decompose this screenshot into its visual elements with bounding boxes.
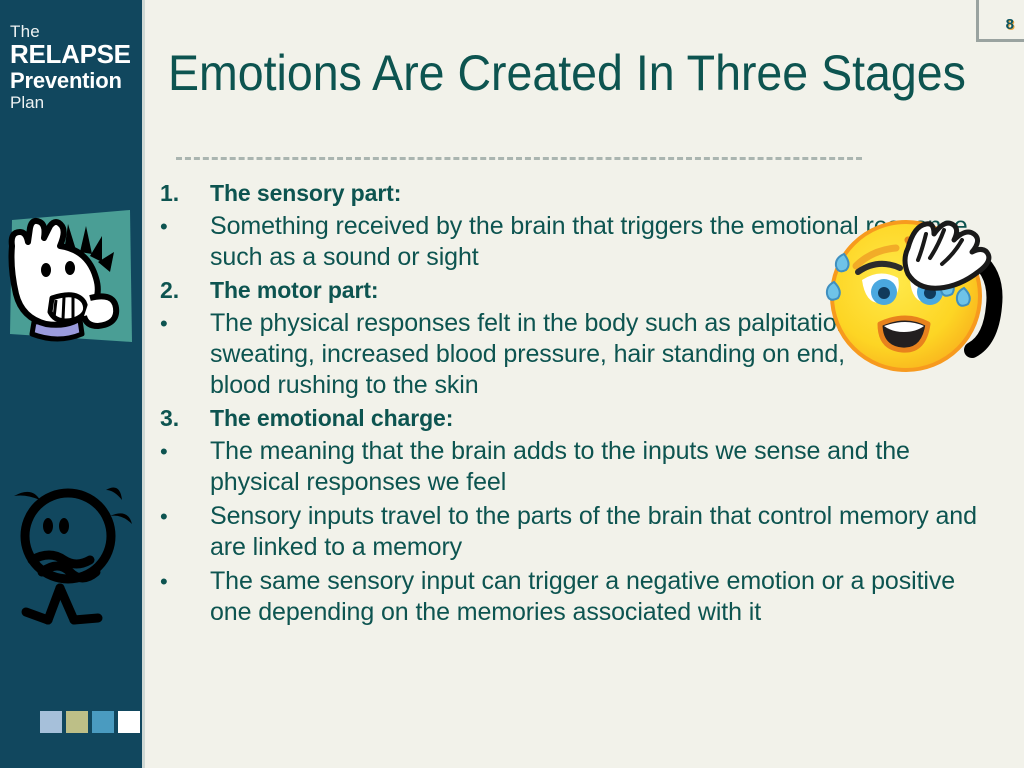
list-marker: •	[160, 566, 210, 597]
list-text: Sensory inputs travel to the parts of th…	[210, 501, 980, 563]
list-marker: 1.	[160, 178, 210, 208]
color-swatch-row	[40, 711, 140, 733]
list-item: • Sensory inputs travel to the parts of …	[160, 501, 980, 563]
shouting-figure-illustration	[2, 202, 138, 354]
stick-figure-sweating-illustration	[2, 460, 136, 632]
swatch-blue	[92, 711, 114, 733]
swatch-khaki	[66, 711, 88, 733]
corner-tab	[976, 0, 1024, 42]
swatch-white	[118, 711, 140, 733]
page-number: 8	[1006, 16, 1014, 33]
stressed-emoji-with-hand-on-forehead	[822, 196, 1014, 386]
list-marker: 2.	[160, 275, 210, 305]
list-item: 3. The emotional charge:	[160, 403, 980, 433]
list-marker: •	[160, 211, 210, 242]
logo-line-relapse: RELAPSE	[10, 41, 136, 68]
list-item: • The same sensory input can trigger a n…	[160, 566, 980, 628]
divider	[176, 157, 862, 160]
list-item: • The meaning that the brain adds to the…	[160, 436, 980, 498]
list-text: The emotional charge:	[210, 403, 980, 433]
sidebar	[0, 0, 142, 768]
list-marker: •	[160, 501, 210, 532]
list-text: The physical responses felt in the body …	[210, 308, 880, 401]
list-marker: 3.	[160, 403, 210, 433]
brand-logo: The RELAPSE Prevention Plan	[10, 22, 136, 113]
logo-line-prevention: Prevention	[10, 68, 136, 93]
list-text: The meaning that the brain adds to the i…	[210, 436, 980, 498]
list-text: The same sensory input can trigger a neg…	[210, 566, 980, 628]
list-item: • The physical responses felt in the bod…	[160, 308, 880, 401]
sidebar-edge-stripe	[142, 0, 145, 768]
swatch-light-blue	[40, 711, 62, 733]
page-title: Emotions Are Created In Three Stages	[168, 44, 921, 102]
list-marker: •	[160, 436, 210, 467]
list-marker: •	[160, 308, 210, 339]
logo-line-plan: Plan	[10, 93, 136, 113]
slide-canvas: The RELAPSE Prevention Plan	[0, 0, 1024, 768]
